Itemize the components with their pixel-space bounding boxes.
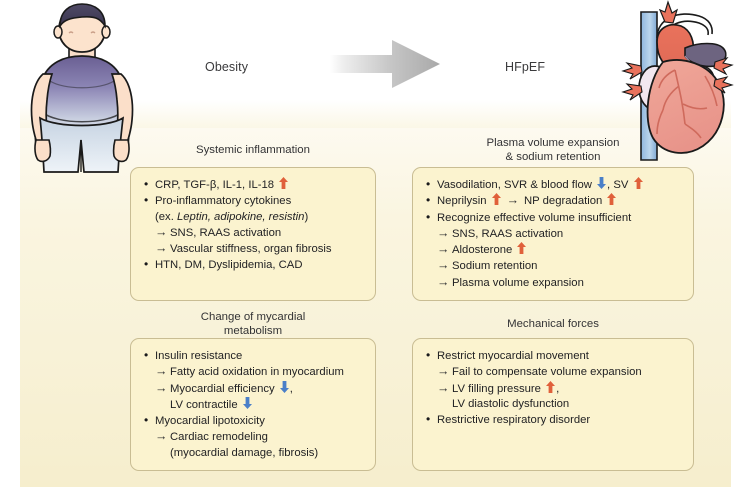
box-line: Aldosterone — [424, 242, 683, 258]
box-line: Fatty acid oxidation in myocardium — [142, 364, 365, 380]
box-line-text: HTN, DM, Dyslipidemia, CAD — [155, 258, 303, 273]
box-line: Fail to compensate volume expansion — [424, 364, 683, 380]
box-line: SNS, RAAS activation — [142, 225, 365, 241]
text: , SV — [607, 179, 632, 191]
text: Myocardial efficiency — [170, 383, 278, 395]
box-line: Myocardial efficiency , — [142, 381, 365, 397]
box-line-text: Pro-inflammatory cytokines — [155, 194, 291, 209]
box-line-text: Myocardial efficiency , — [170, 381, 293, 397]
text: LV filling pressure — [452, 383, 544, 395]
box-line-text: Restrictive respiratory disorder — [437, 413, 590, 428]
box-title-change-of-myocardial-metabolism: Change of mycardial metabolism — [130, 311, 376, 338]
text: CRP, TGF-β, IL-1, IL-18 — [155, 179, 277, 191]
text: Fatty acid oxidation in myocardium — [170, 366, 344, 378]
box-line: Myocardial lipotoxicity — [142, 413, 365, 429]
text: SNS, RAAS activation — [452, 228, 563, 240]
up-arrow-icon — [634, 177, 643, 189]
box-line-text: Aldosterone — [452, 242, 527, 258]
up-arrow-icon — [546, 381, 555, 393]
box-line: Vasodilation, SVR & blood flow , SV — [424, 177, 683, 193]
box-line: Insulin resistance — [142, 348, 365, 364]
box-line-text: Vascular stiffness, organ fibrosis — [170, 242, 332, 257]
text: Neprilysin — [437, 195, 490, 207]
box-line-text: Plasma volume expansion — [452, 276, 584, 291]
box-line-text: LV diastolic dysfunction — [452, 397, 569, 412]
up-arrow-icon — [279, 177, 288, 189]
box-systemic-inflammation: CRP, TGF-β, IL-1, IL-18 Pro-inflammatory… — [130, 167, 376, 301]
text: , — [290, 383, 293, 395]
hfpef-pathophysiology-figure: Obesity HFpEF Systemic inflammation Plas… — [0, 0, 751, 501]
text: Restrictive respiratory disorder — [437, 414, 590, 426]
text: Pro-inflammatory cytokines — [155, 195, 291, 207]
text: LV diastolic dysfunction — [452, 398, 569, 410]
box-line: Neprilysin → NP degradation — [424, 193, 683, 209]
text: ) — [304, 211, 308, 223]
box-line: Cardiac remodeling — [142, 429, 365, 445]
box-line: Vascular stiffness, organ fibrosis — [142, 241, 365, 257]
box-line-text: LV filling pressure , — [452, 381, 559, 397]
box-line: Pro-inflammatory cytokines — [142, 193, 365, 209]
box-change-of-myocardial-metabolism: Insulin resistanceFatty acid oxidation i… — [130, 338, 376, 471]
hfpef-label: HFpEF — [505, 60, 545, 74]
text: Cardiac remodeling — [170, 431, 268, 443]
box-line-text: Sodium retention — [452, 259, 537, 274]
text: Fail to compensate volume expansion — [452, 366, 642, 378]
box-line: SNS, RAAS activation — [424, 226, 683, 242]
box-mechanical-forces: Restrict myocardial movementFail to comp… — [412, 338, 694, 471]
box-line-text: (ex. Leptin, adipokine, resistin) — [155, 210, 308, 225]
up-arrow-icon — [517, 242, 526, 254]
text: SNS, RAAS activation — [170, 227, 281, 239]
box-line: Restrict myocardial movement — [424, 348, 683, 364]
box-line-text: Recognize effective volume insufficient — [437, 211, 631, 226]
box-line-text: Cardiac remodeling — [170, 430, 268, 445]
box-line-text: Neprilysin → NP degradation — [437, 193, 617, 209]
down-arrow-icon — [597, 177, 606, 189]
box-line: (myocardial damage, fibrosis) — [142, 446, 365, 461]
text: Plasma volume expansion — [452, 277, 584, 289]
text: Recognize effective volume insufficient — [437, 212, 631, 224]
down-arrow-icon — [280, 381, 289, 393]
box-line-text: Myocardial lipotoxicity — [155, 414, 265, 429]
text: (ex. — [155, 211, 177, 223]
box-title-mechanical-forces: Mechanical forces — [412, 318, 694, 332]
text: LV contractile — [170, 399, 241, 411]
emphasis-text: Leptin, adipokine, resistin — [177, 211, 304, 223]
box-line-text: SNS, RAAS activation — [452, 227, 563, 242]
box-line-text: Restrict myocardial movement — [437, 349, 589, 364]
box-line-text: (myocardial damage, fibrosis) — [170, 446, 318, 461]
box-line-text: Fail to compensate volume expansion — [452, 365, 642, 380]
text: Insulin resistance — [155, 350, 242, 362]
box-line: Recognize effective volume insufficient — [424, 210, 683, 226]
up-arrow-icon — [607, 193, 616, 205]
box-line: Sodium retention — [424, 258, 683, 274]
text: Restrict myocardial movement — [437, 350, 589, 362]
box-line-text: Fatty acid oxidation in myocardium — [170, 365, 344, 380]
box-line: (ex. Leptin, adipokine, resistin) — [142, 210, 365, 225]
text: Vasodilation, SVR & blood flow — [437, 179, 595, 191]
text: Aldosterone — [452, 244, 515, 256]
box-line: CRP, TGF-β, IL-1, IL-18 — [142, 177, 365, 193]
text: Sodium retention — [452, 260, 537, 272]
box-line-text: Vasodilation, SVR & blood flow , SV — [437, 177, 644, 193]
text: NP degradation — [521, 195, 606, 207]
text: , — [556, 383, 559, 395]
text: Myocardial lipotoxicity — [155, 415, 265, 427]
box-title-systemic-inflammation: Systemic inflammation — [130, 144, 376, 158]
box-line-text: CRP, TGF-β, IL-1, IL-18 — [155, 177, 289, 193]
box-line: LV contractile — [142, 397, 365, 413]
box-line: Restrictive respiratory disorder — [424, 412, 683, 428]
down-arrow-icon — [243, 397, 252, 409]
box-line: LV filling pressure , — [424, 381, 683, 397]
obesity-label: Obesity — [205, 60, 248, 74]
box-title-plasma-volume-expansion: Plasma volume expansion & sodium retenti… — [412, 137, 694, 164]
box-line-text: LV contractile — [170, 397, 253, 413]
box-line-text: SNS, RAAS activation — [170, 226, 281, 241]
box-line: LV diastolic dysfunction — [424, 397, 683, 412]
box-plasma-volume-expansion: Vasodilation, SVR & blood flow , SV Nepr… — [412, 167, 694, 301]
right-arrow-gradient-icon — [330, 40, 440, 88]
text: HTN, DM, Dyslipidemia, CAD — [155, 259, 303, 271]
up-arrow-icon — [492, 193, 501, 205]
text: (myocardial damage, fibrosis) — [170, 447, 318, 459]
box-line: Plasma volume expansion — [424, 275, 683, 291]
inline-right-arrow-icon: → — [505, 193, 521, 208]
text: Vascular stiffness, organ fibrosis — [170, 243, 332, 255]
box-line: HTN, DM, Dyslipidemia, CAD — [142, 257, 365, 273]
box-line-text: Insulin resistance — [155, 349, 242, 364]
